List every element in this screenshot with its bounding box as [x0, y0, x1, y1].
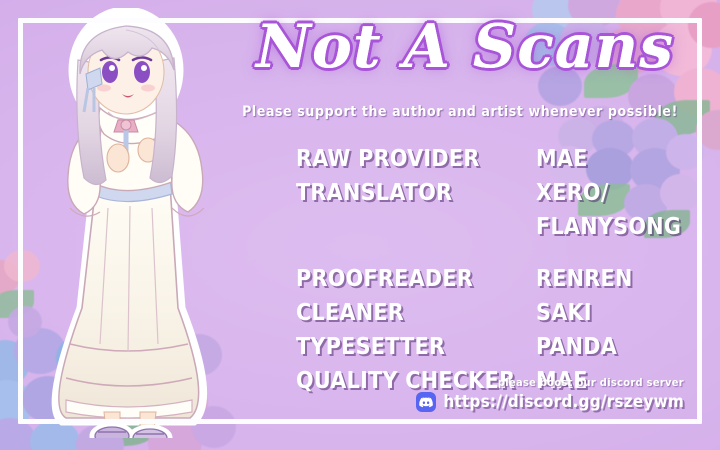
credit-name: XERO/ FLANYSONG	[536, 176, 696, 244]
discord-url[interactable]: https://discord.gg/rszeywm	[443, 392, 684, 412]
credit-row: CLEANER SAKI	[296, 296, 696, 330]
support-tagline: Please support the author and artist whe…	[240, 104, 680, 120]
credit-name: MAE	[536, 142, 696, 176]
credit-role: TYPESETTER	[296, 330, 536, 364]
discord-block: please boost our discord server https://…	[416, 376, 684, 412]
credit-row: TRANSLATOR XERO/ FLANYSONG	[296, 176, 696, 244]
page-title: Not A Scans	[240, 6, 690, 88]
credit-row: PROOFREADER RENREN	[296, 262, 696, 296]
credit-name: RENREN	[536, 262, 696, 296]
credit-row: TYPESETTER PANDA	[296, 330, 696, 364]
credit-role: RAW PROVIDER	[296, 142, 536, 176]
credit-role: TRANSLATOR	[296, 176, 536, 210]
discord-icon	[416, 392, 436, 412]
discord-boost-text: please boost our discord server	[416, 376, 684, 389]
discord-link-row[interactable]: https://discord.gg/rszeywm	[416, 392, 684, 412]
credit-name: SAKI	[536, 296, 696, 330]
credits-list: RAW PROVIDER MAE TRANSLATOR XERO/ FLANYS…	[296, 142, 696, 398]
credits-page: Not A Scans Please support the author an…	[0, 0, 720, 450]
credit-row: RAW PROVIDER MAE	[296, 142, 696, 176]
credit-role: PROOFREADER	[296, 262, 536, 296]
credit-name: PANDA	[536, 330, 696, 364]
credits-spacer	[296, 244, 696, 262]
credit-role: CLEANER	[296, 296, 536, 330]
